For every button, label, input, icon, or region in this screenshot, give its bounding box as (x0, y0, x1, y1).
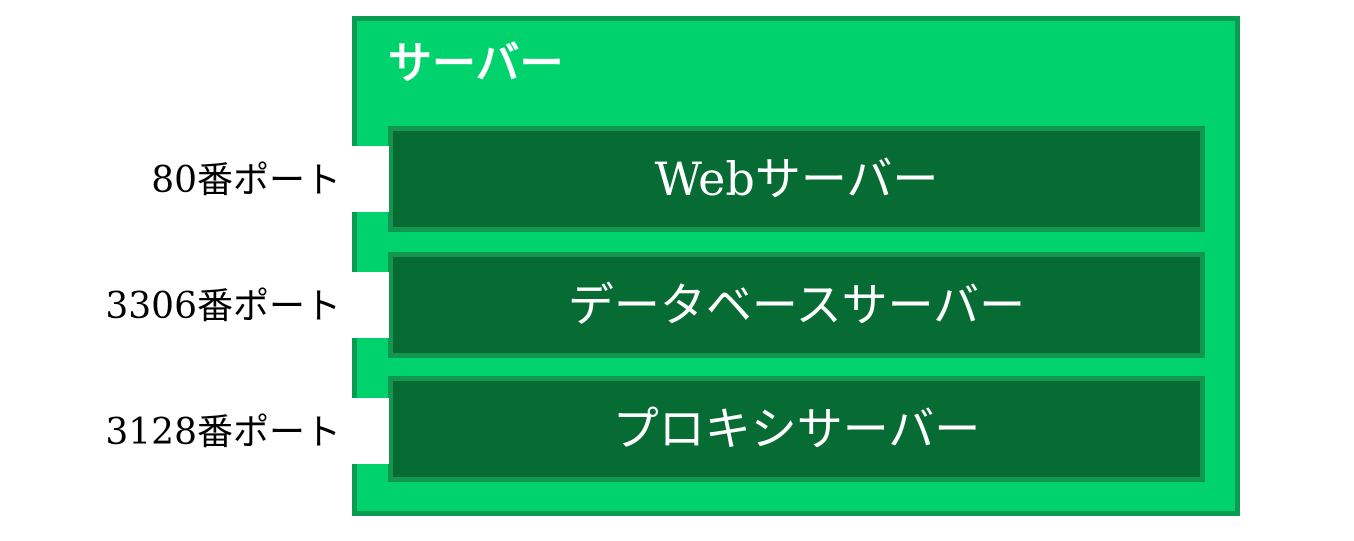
service-label-web: Webサーバー (655, 154, 939, 204)
service-label-proxy: プロキシサーバー (613, 404, 981, 454)
service-box-proxy: プロキシサーバー (388, 376, 1205, 482)
port-notch-proxy (352, 398, 389, 464)
port-notch-database (352, 272, 389, 338)
port-label-web: 80番ポート (151, 159, 341, 203)
service-box-database: データベースサーバー (388, 252, 1205, 358)
server-title: サーバー (388, 38, 564, 90)
port-notch-web (352, 146, 389, 212)
port-label-database: 3306番ポート (105, 285, 341, 329)
service-box-web: Webサーバー (388, 126, 1205, 232)
server-diagram: サーバー Webサーバー データベースサーバー プロキシサーバー 80番ポート … (0, 0, 1354, 541)
port-label-proxy: 3128番ポート (105, 411, 341, 455)
service-label-database: データベースサーバー (568, 280, 1025, 330)
